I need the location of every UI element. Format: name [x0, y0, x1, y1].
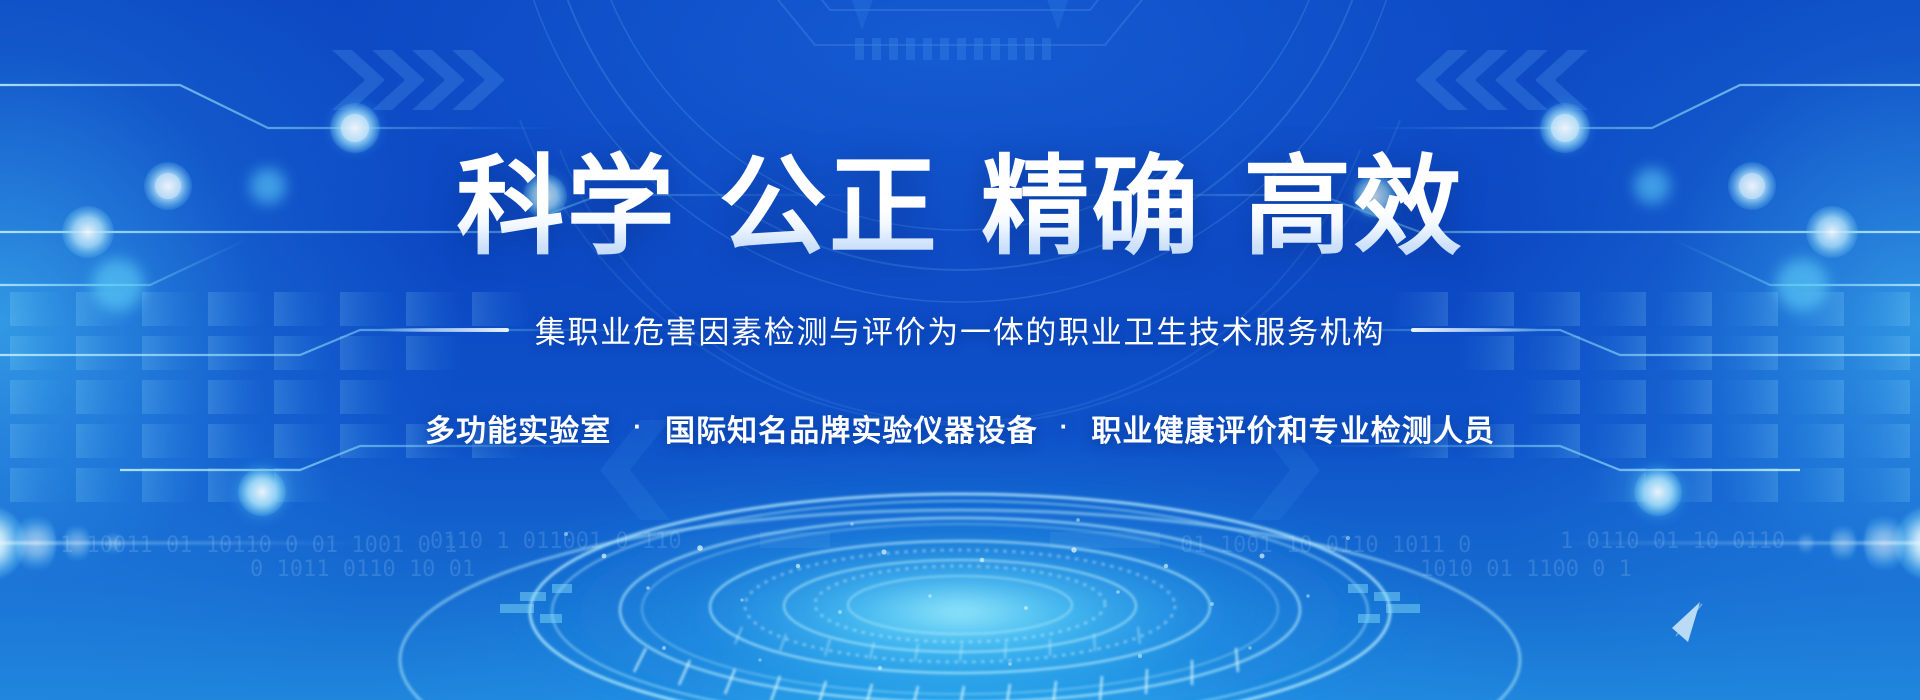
title-word-3: 精确 — [981, 146, 1201, 267]
title-word-1: 科学 — [456, 146, 676, 267]
banner-subtitle: 集职业危害因素检测与评价为一体的职业卫生技术服务机构 — [535, 307, 1385, 352]
tagline-item-1: 多功能实验室 — [425, 406, 611, 450]
bullet-separator-icon: · — [633, 413, 643, 439]
banner-content: 科学公正精确高效 集职业危害因素检测与评价为一体的职业卫生技术服务机构 多功能实… — [0, 0, 1920, 700]
gradient-rule-left-icon — [381, 328, 509, 332]
subtitle-row: 集职业危害因素检测与评价为一体的职业卫生技术服务机构 — [381, 307, 1539, 352]
bullet-separator-icon: · — [1060, 413, 1070, 439]
title-word-2: 公正 — [719, 146, 939, 267]
banner-tagline: 多功能实验室 · 国际知名品牌实验仪器设备 · 职业健康评价和专业检测人员 — [425, 406, 1495, 450]
tagline-item-2: 国际知名品牌实验仪器设备 — [665, 406, 1038, 450]
title-word-4: 高效 — [1243, 146, 1463, 267]
page-title: 科学公正精确高效 — [456, 150, 1463, 263]
banner-root: 1 10011 01 10110 0 01 1001 0 1 0110 1 01… — [0, 0, 1920, 700]
tagline-item-3: 职业健康评价和专业检测人员 — [1091, 406, 1495, 450]
gradient-rule-right-icon — [1411, 328, 1539, 332]
